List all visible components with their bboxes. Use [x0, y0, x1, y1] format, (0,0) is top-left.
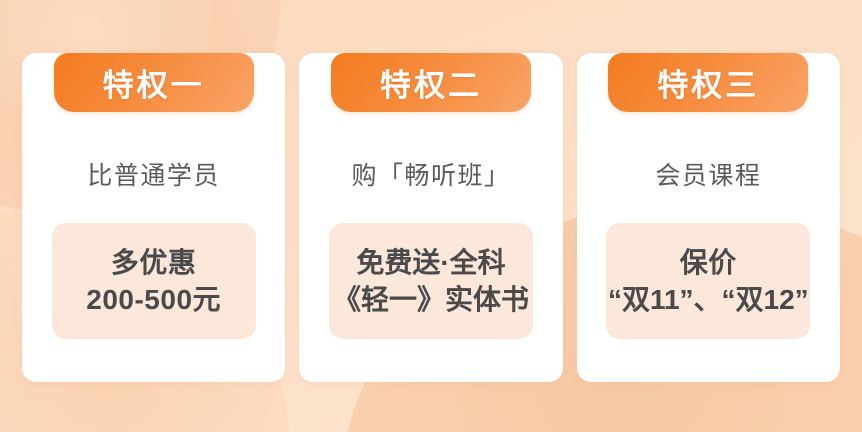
highlight-line-2: 《轻一》实体书: [333, 281, 529, 318]
highlight-line-1: 保价: [680, 244, 737, 281]
privilege-card-3[interactable]: 特权三 会员课程 保价 “双11”、“双12”: [577, 53, 840, 382]
highlight-line-1: 多优惠: [111, 244, 197, 281]
privilege-highlight-3: 保价 “双11”、“双12”: [606, 223, 810, 339]
privilege-card-list: 特权一 比普通学员 多优惠 200-500元 特权二 购「畅听班」 免费送·全科…: [22, 53, 840, 382]
promo-banner: 特权一 比普通学员 多优惠 200-500元 特权二 购「畅听班」 免费送·全科…: [0, 0, 862, 432]
privilege-badge-2: 特权二: [331, 53, 531, 112]
privilege-badge-label: 特权一: [103, 60, 205, 105]
highlight-line-2: “双11”、“双12”: [608, 281, 809, 318]
privilege-card-2[interactable]: 特权二 购「畅听班」 免费送·全科 《轻一》实体书: [299, 53, 562, 382]
privilege-badge-3: 特权三: [608, 53, 808, 112]
highlight-line-1: 免费送·全科: [356, 244, 505, 281]
privilege-subtitle-1: 比普通学员: [87, 156, 220, 192]
privilege-highlight-1: 多优惠 200-500元: [52, 223, 256, 339]
highlight-line-2: 200-500元: [86, 281, 221, 318]
privilege-subtitle-2: 购「畅听班」: [351, 156, 510, 192]
privilege-badge-label: 特权三: [657, 60, 759, 105]
privilege-subtitle-3: 会员课程: [655, 156, 761, 192]
privilege-badge-label: 特权二: [380, 60, 482, 105]
privilege-badge-1: 特权一: [54, 53, 254, 112]
privilege-highlight-2: 免费送·全科 《轻一》实体书: [329, 223, 533, 339]
privilege-card-1[interactable]: 特权一 比普通学员 多优惠 200-500元: [22, 53, 285, 382]
